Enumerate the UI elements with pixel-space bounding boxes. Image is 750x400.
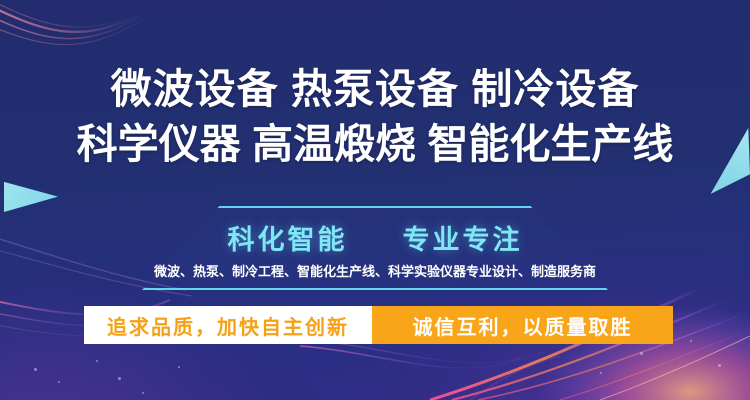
arrow-triangle-left-icon	[4, 180, 58, 212]
promo-banner: 微波设备 热泵设备 制冷设备 科学仪器 高温煅烧 智能化生产线 科化智能 专业专…	[0, 0, 750, 400]
page-title: 微波设备 热泵设备 制冷设备 科学仪器 高温煅烧 智能化生产线	[0, 62, 750, 171]
slogan-bars: 追求品质，加快自主创新 诚信互利，以质量取胜	[84, 306, 673, 344]
slogan-primary-left: 科化智能	[227, 225, 347, 255]
slogan-primary: 科化智能 专业专注	[142, 218, 608, 257]
headline-line-2: 科学仪器 高温煅烧 智能化生产线	[0, 117, 750, 172]
slogan-bar-integrity: 诚信互利，以质量取胜	[372, 306, 673, 344]
slogan-subtitle: 微波、热泵、制冷工程、智能化生产线、科学实验仪器专业设计、制造服务商	[142, 261, 608, 280]
slogan-plate: 科化智能 专业专注 微波、热泵、制冷工程、智能化生产线、科学实验仪器专业设计、制…	[142, 206, 608, 290]
headline-line-1: 微波设备 热泵设备 制冷设备	[0, 62, 750, 117]
slogan-primary-right: 专业专注	[403, 225, 523, 255]
slogan-bar-quality: 追求品质，加快自主创新	[84, 306, 372, 344]
slogan-plate-content: 科化智能 专业专注 微波、热泵、制冷工程、智能化生产线、科学实验仪器专业设计、制…	[142, 206, 608, 290]
